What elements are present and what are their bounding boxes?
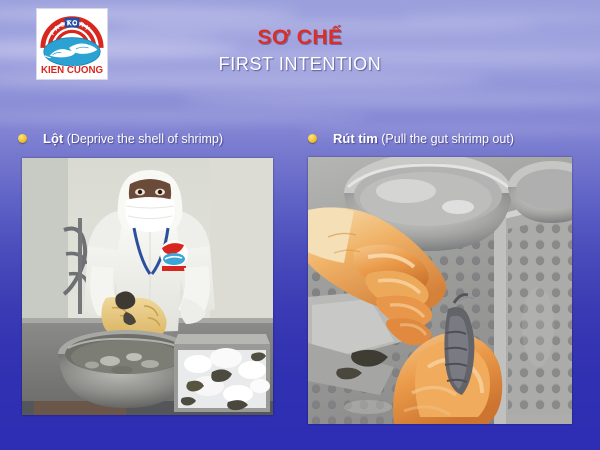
slide-canvas: KC FACTORY KIEN CUONG SƠ CHẾ FIRST INTEN… xyxy=(0,0,600,450)
cloud-band xyxy=(400,12,600,23)
bullet-dot-icon xyxy=(308,134,317,143)
bullet-gloss: (Deprive the shell of shrimp) xyxy=(67,132,223,146)
page-title-vietnamese: SƠ CHẾ xyxy=(0,26,600,50)
bullet-label-lot: Lột (Deprive the shell of shrimp) xyxy=(43,131,223,146)
bullet-item-lot: Lột (Deprive the shell of shrimp) xyxy=(18,128,223,148)
bullet-label-rut-tim: Rút tim (Pull the gut shrimp out) xyxy=(333,131,514,146)
bullet-gloss: (Pull the gut shrimp out) xyxy=(381,132,514,146)
bullet-dot-icon xyxy=(18,134,27,143)
bullet-term: Rút tim xyxy=(333,131,378,146)
photo-deveining-shrimp-artwork xyxy=(308,157,572,424)
cloud-band xyxy=(180,92,600,107)
photo-deveining-shrimp xyxy=(308,157,572,424)
page-title-english: FIRST INTENTION xyxy=(0,54,600,75)
cloud-band xyxy=(0,110,370,124)
photo-peeling-shrimp-artwork xyxy=(22,158,273,415)
bullet-term: Lột xyxy=(43,131,63,146)
bullet-item-rut-tim: Rút tim (Pull the gut shrimp out) xyxy=(308,128,514,148)
photo-peeling-shrimp xyxy=(22,158,273,415)
